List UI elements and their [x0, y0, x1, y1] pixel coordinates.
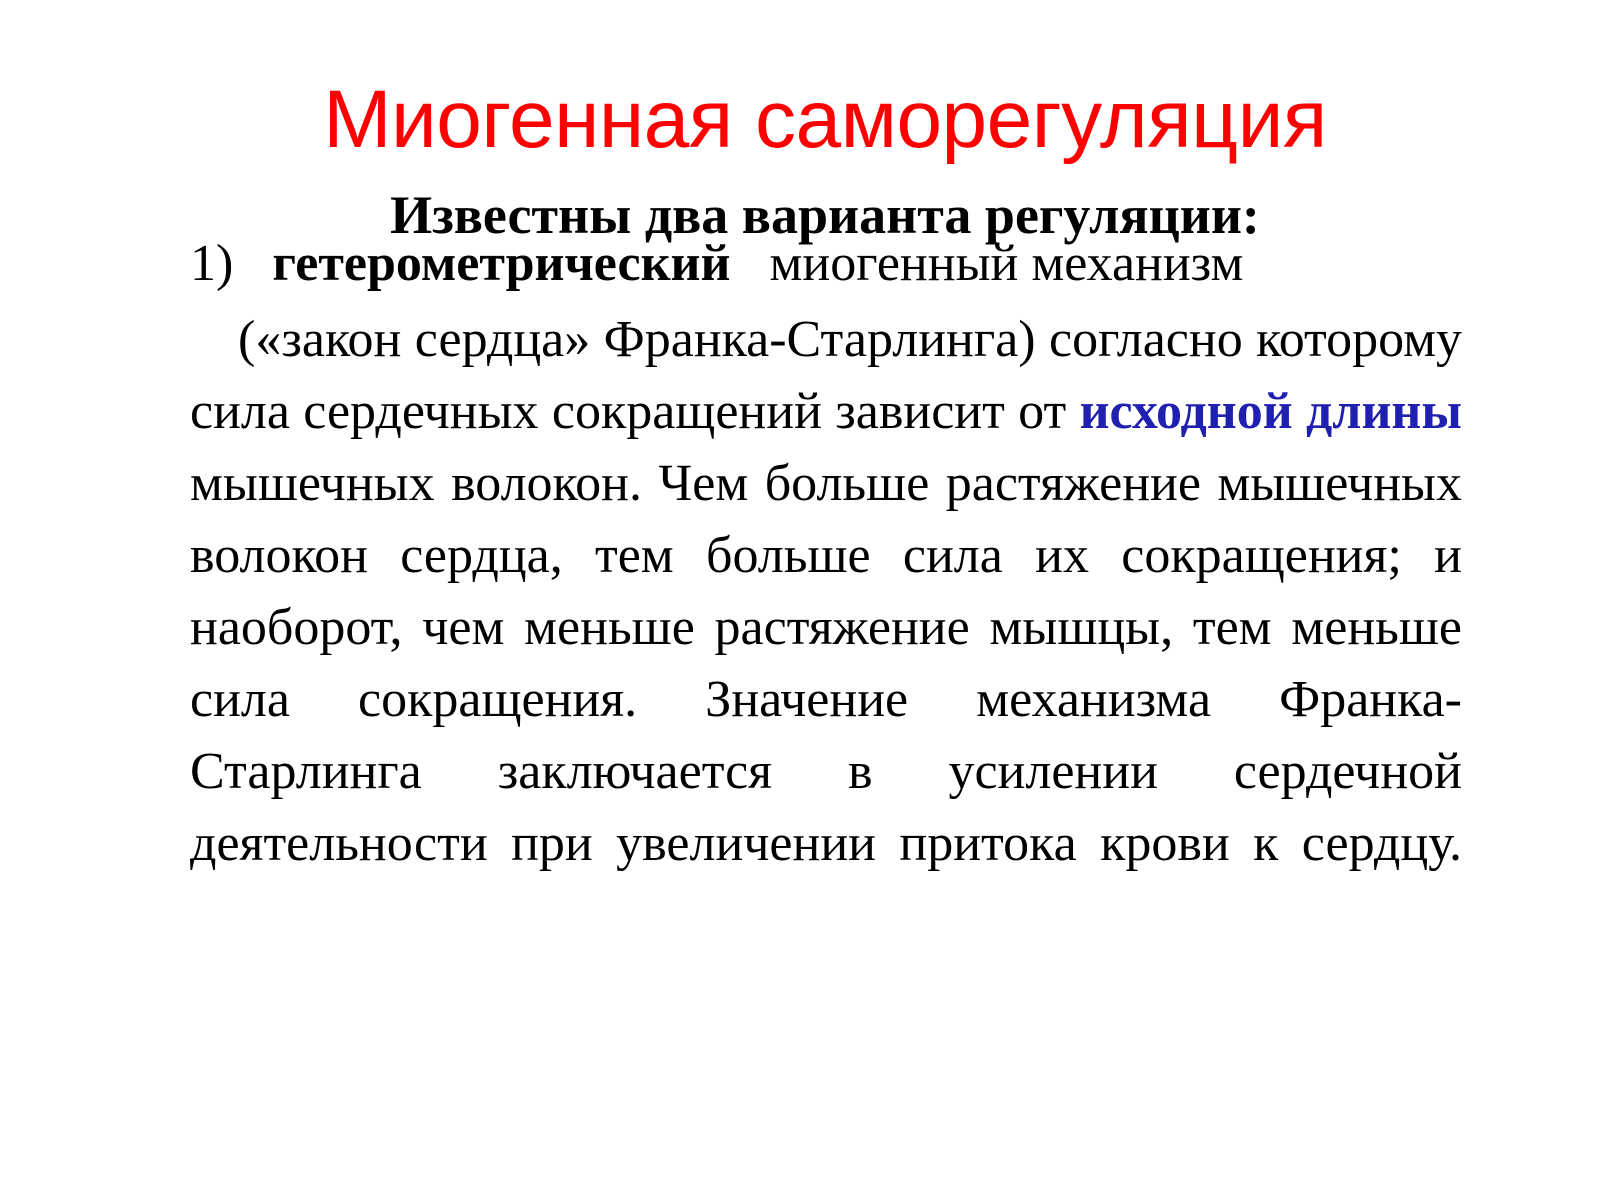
paragraph-text-after-highlight: мышечных волокон. Чем больше растяжение …: [190, 455, 1462, 872]
body-paragraph: («закон сердца» Франка-Старлинга) соглас…: [190, 304, 1462, 952]
highlighted-phrase: исходной длины: [1080, 383, 1462, 440]
list-item-term: гетерометрический: [272, 235, 730, 292]
list-item-text: миогенный механизм: [769, 235, 1243, 292]
page-title: Миогенная саморегуляция: [190, 77, 1460, 164]
spacer: [743, 235, 756, 292]
spacer: [246, 235, 259, 292]
presentation-slide: Миогенная саморегуляция Известны два вар…: [0, 0, 1600, 1200]
list-item-number: 1): [190, 235, 233, 292]
list-item: 1) гетерометрический миогенный механизм: [190, 228, 1462, 300]
slide-body: 1) гетерометрический миогенный механизм …: [190, 228, 1462, 952]
